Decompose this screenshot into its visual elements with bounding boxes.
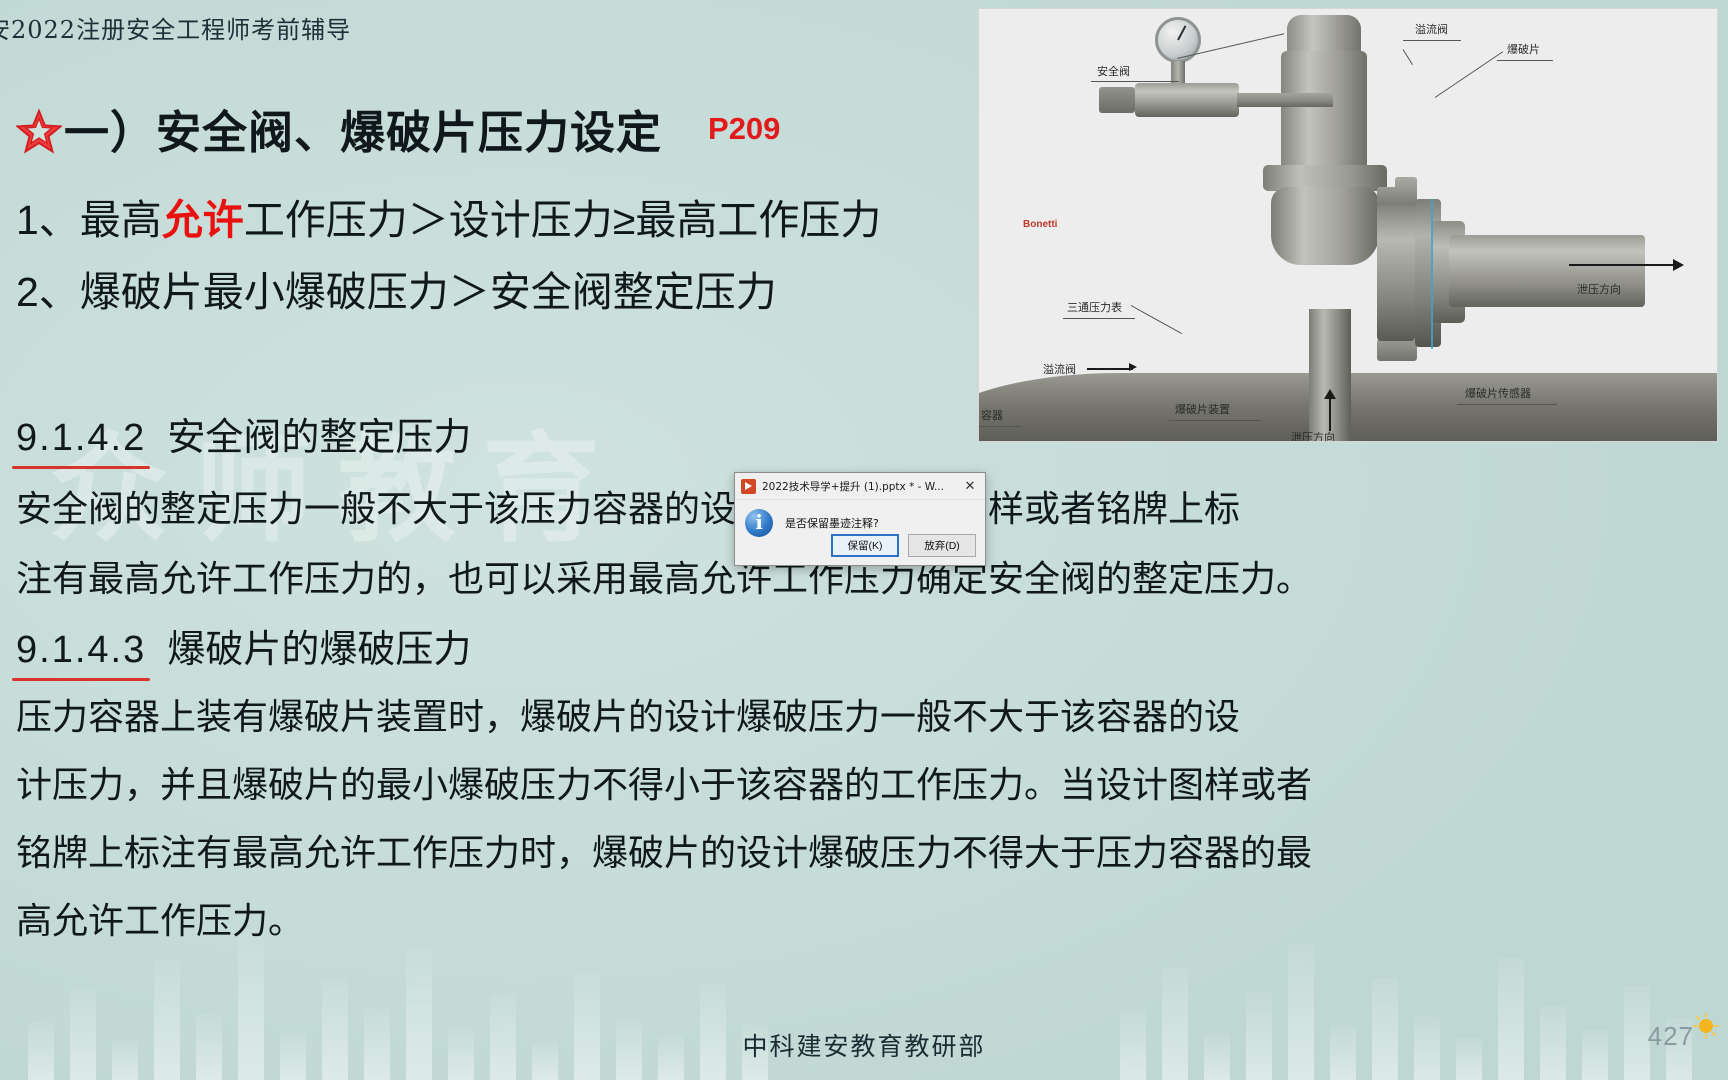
diagram-label-vessel: 容器 — [981, 407, 1003, 423]
section-heading-2: 9.1.4.3 爆破片的爆破压力 — [16, 618, 471, 673]
diagram-label-tee-pressure-gauge: 三通压力表 — [1067, 299, 1122, 315]
section-2-paragraph-3: 铭牌上标注有最高允许工作压力时，爆破片的设计爆破压力不得大于压力容器的最 — [16, 824, 1312, 876]
slide-canvas: 众师教育 安2022注册安全工程师考前辅导 一）安全阀、爆破片压力设定 P209 — [0, 0, 1728, 1080]
equation-1-prefix: 1、最高 — [16, 197, 162, 243]
valve-cap — [1287, 15, 1361, 55]
flange-bolt — [1377, 339, 1417, 361]
sun-icon — [1690, 1012, 1720, 1042]
section-2-paragraph-2: 计压力，并且爆破片的最小爆破压力不得小于该容器的工作压力。当设计图样或者 — [16, 756, 1312, 808]
diagram-label-overflow-valve-top: 溢流阀 — [1415, 21, 1448, 37]
overflow-valve-nut — [1099, 87, 1135, 113]
equation-line-2: 2、爆破片最小爆破压力＞安全阀整定压力 — [16, 258, 777, 318]
equation-1-highlight: 允许 — [162, 197, 244, 243]
info-icon — [745, 509, 773, 537]
valve-diagram-image: Bonetti 安全阀 溢流阀 爆破片 泄压方向 三通压力表 — [978, 8, 1718, 442]
diagram-label-rupture-disc-sensor: 爆破片传感器 — [1465, 385, 1531, 401]
valve-brand-text: Bonetti — [1023, 219, 1057, 230]
leader-line — [1435, 51, 1504, 98]
section-1-paragraph-1: 安全阀的整定压力一般不大于该压力容器的设计压力。设计图样或者铭牌上标 — [16, 480, 1240, 532]
dialog-message: 是否保留墨迹注释? — [785, 509, 879, 531]
red-star-icon — [16, 108, 62, 154]
dialog-title-bar[interactable]: 2022技术导学+提升 (1).pptx * - W... ✕ — [735, 473, 985, 500]
leader-line — [1063, 318, 1135, 319]
leader-line — [1131, 305, 1182, 334]
equation-1-suffix: 工作压力＞设计压力≥最高工作压力 — [244, 197, 882, 243]
rupture-disc-membrane — [1431, 199, 1433, 349]
equation-2-prefix: 2、爆破片最小爆破压力＞安全阀整定压力 — [16, 269, 777, 315]
pressure-gauge — [1155, 17, 1201, 63]
page-title: 一）安全阀、爆破片压力设定 P209 — [16, 96, 780, 161]
dialog-button-row: 保留(K) 放弃(D) — [831, 534, 976, 557]
leader-line — [1169, 420, 1261, 421]
section-1-paragraph-2: 注有最高允许工作压力的，也可以采用最高允许工作压力确定安全阀的整定压力。 — [16, 550, 1312, 602]
valve-neck — [1281, 51, 1367, 173]
leader-line — [1457, 404, 1557, 405]
discard-ink-button[interactable]: 放弃(D) — [908, 534, 976, 557]
dialog-body: 是否保留墨迹注释? — [735, 500, 985, 537]
section-1-number: 9.1.4.2 — [16, 417, 146, 460]
powerpoint-icon — [741, 479, 756, 494]
section-heading-1: 9.1.4.2 安全阀的整定压力 — [16, 406, 471, 461]
keep-ink-button[interactable]: 保留(K) — [831, 534, 899, 557]
valve-body — [1271, 187, 1379, 265]
section-2-paragraph-1: 压力容器上装有爆破片装置时，爆破片的设计爆破压力一般不大于该容器的设 — [16, 688, 1240, 740]
section-2-heading: 爆破片的爆破压力 — [167, 629, 471, 671]
safety-valve-assembly — [1261, 15, 1389, 255]
tee-outlet-pipe — [1237, 93, 1333, 107]
gauge-needle — [1177, 25, 1186, 40]
diagram-label-overflow-valve-left: 溢流阀 — [1043, 361, 1076, 377]
diagram-label-release-direction-bottom: 泄压方向 — [1291, 429, 1335, 442]
diagram-label-safety-valve: 安全阀 — [1097, 63, 1130, 79]
leader-line — [1091, 81, 1179, 82]
leader-line — [978, 426, 1021, 427]
save-ink-annotations-dialog: 2022技术导学+提升 (1).pptx * - W... ✕ 是否保留墨迹注释… — [734, 472, 986, 566]
diagram-label-rupture-disc: 爆破片 — [1507, 41, 1540, 57]
section-1-heading: 安全阀的整定压力 — [167, 417, 471, 459]
equation-line-1: 1、最高允许工作压力＞设计压力≥最高工作压力 — [16, 186, 881, 246]
dialog-title-text: 2022技术导学+提升 (1).pptx * - W... — [762, 479, 957, 494]
leader-line — [1403, 40, 1461, 41]
diagram-label-rupture-disc-device: 爆破片装置 — [1175, 401, 1230, 417]
leader-line — [1403, 49, 1413, 65]
slide-header-title: 安2022注册安全工程师考前辅导 — [0, 10, 351, 45]
leader-line — [1497, 60, 1553, 61]
rupture-disc-flange-left — [1377, 205, 1415, 341]
page-reference: P209 — [708, 111, 780, 147]
section-2-paragraph-4: 高允许工作压力。 — [16, 892, 304, 944]
page-title-text: 一）安全阀、爆破片压力设定 — [64, 96, 662, 161]
diagram-label-release-direction-right: 泄压方向 — [1577, 281, 1621, 297]
page-number: 427 — [1648, 1021, 1694, 1052]
section-2-number: 9.1.4.3 — [16, 629, 146, 672]
close-icon[interactable]: ✕ — [957, 474, 983, 498]
tee-fitting — [1135, 83, 1239, 117]
slide-footer: 中科建安教育教研部 — [0, 1027, 1728, 1063]
